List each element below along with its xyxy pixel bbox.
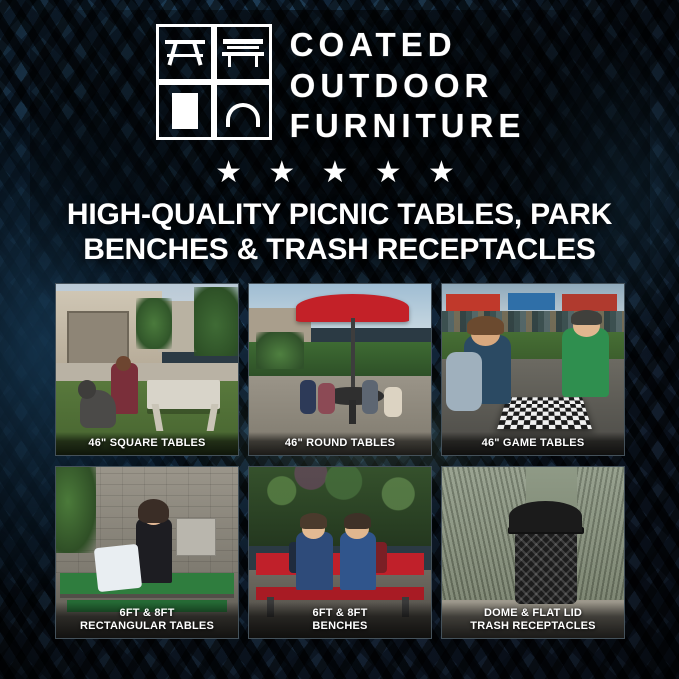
tile-caption: 46" SQUARE TABLES xyxy=(56,432,238,455)
category-tile-trash-receptacles[interactable]: DOME & FLAT LID TRASH RECEPTACLES xyxy=(441,466,625,639)
brand-word-outdoor: OUTDOOR xyxy=(290,69,526,103)
tile-caption: 6FT & 8FT BENCHES xyxy=(249,602,431,638)
brand-word-furniture: FURNITURE xyxy=(290,109,526,143)
photo-square-tables xyxy=(56,284,238,455)
category-tile-square-tables[interactable]: 46" SQUARE TABLES xyxy=(55,283,239,456)
brand-wordmark: COATED OUTDOOR FURNITURE xyxy=(290,22,526,143)
tile-caption-line-1: 6FT & 8FT xyxy=(120,607,175,619)
brand-logo: COATED OUTDOOR FURNITURE xyxy=(0,22,679,143)
picnic-table-icon xyxy=(156,24,214,82)
tile-caption: 46" GAME TABLES xyxy=(442,432,624,455)
product-banner: COATED OUTDOOR FURNITURE ★ ★ ★ ★ ★ HIGH-… xyxy=(0,0,679,679)
category-tile-benches[interactable]: 6FT & 8FT BENCHES xyxy=(248,466,432,639)
photo-game-tables xyxy=(442,284,624,455)
headline-line-2: BENCHES & TRASH RECEPTACLES xyxy=(30,233,649,268)
tile-caption-line-1: 46" SQUARE TABLES xyxy=(88,437,205,449)
star-rating: ★ ★ ★ ★ ★ xyxy=(0,158,679,188)
tile-caption: 46" ROUND TABLES xyxy=(249,432,431,455)
tile-caption-line-1: DOME & FLAT LID xyxy=(484,607,582,619)
headline-line-1: HIGH-QUALITY PICNIC TABLES, PARK xyxy=(67,198,612,231)
dome-lid-trash-receptacle-icon xyxy=(214,82,272,140)
headline: HIGH-QUALITY PICNIC TABLES, PARK BENCHES… xyxy=(30,198,649,268)
banner-content: COATED OUTDOOR FURNITURE ★ ★ ★ ★ ★ HIGH-… xyxy=(0,0,679,679)
tile-caption: DOME & FLAT LID TRASH RECEPTACLES xyxy=(442,602,624,638)
logo-mark xyxy=(154,22,274,142)
category-tile-rectangular-tables[interactable]: 6FT & 8FT RECTANGULAR TABLES xyxy=(55,466,239,639)
photo-round-tables xyxy=(249,284,431,455)
tile-caption-line-1: 46" GAME TABLES xyxy=(482,437,585,449)
tile-caption-line-2: TRASH RECEPTACLES xyxy=(470,620,595,632)
tile-caption-line-1: 46" ROUND TABLES xyxy=(285,437,395,449)
product-category-grid: 46" SQUARE TABLES 46" ROUND TABLES xyxy=(55,283,625,639)
tile-caption-line-2: RECTANGULAR TABLES xyxy=(80,620,214,632)
category-tile-round-tables[interactable]: 46" ROUND TABLES xyxy=(248,283,432,456)
brand-word-coated: COATED xyxy=(290,28,526,62)
park-bench-icon xyxy=(214,24,272,82)
tile-caption: 6FT & 8FT RECTANGULAR TABLES xyxy=(56,602,238,638)
category-tile-game-tables[interactable]: 46" GAME TABLES xyxy=(441,283,625,456)
tile-caption-line-2: BENCHES xyxy=(312,620,367,632)
tile-caption-line-1: 6FT & 8FT xyxy=(313,607,368,619)
flat-lid-trash-receptacle-icon xyxy=(156,82,214,140)
